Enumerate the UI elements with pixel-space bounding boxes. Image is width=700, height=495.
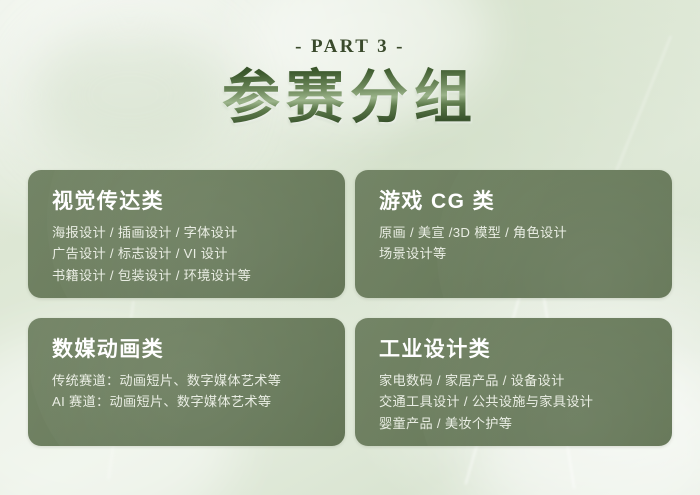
card-description: 原画 / 美宣 /3D 模型 / 角色设计 场景设计等	[379, 222, 672, 265]
poster-canvas: - PART 3 - 参赛分组 参赛分组 视觉传达类 海报设计 / 插画设计 /…	[0, 0, 700, 495]
card-description: 家电数码 / 家居产品 / 设备设计 交通工具设计 / 公共设施与家具设计 婴童…	[379, 370, 672, 434]
part-label: - PART 3 -	[0, 36, 700, 58]
category-card-industrial-design[interactable]: 工业设计类 家电数码 / 家居产品 / 设备设计 交通工具设计 / 公共设施与家…	[355, 318, 672, 446]
card-content: 数媒动画类 传统赛道：动画短片、数字媒体艺术等 AI 赛道：动画短片、数字媒体艺…	[28, 318, 345, 413]
card-line: 交通工具设计 / 公共设施与家具设计	[379, 391, 672, 412]
card-line: 原画 / 美宣 /3D 模型 / 角色设计	[379, 222, 672, 243]
card-content: 工业设计类 家电数码 / 家居产品 / 设备设计 交通工具设计 / 公共设施与家…	[355, 318, 672, 434]
card-content: 视觉传达类 海报设计 / 插画设计 / 字体设计 广告设计 / 标志设计 / V…	[28, 170, 345, 286]
card-title: 数媒动画类	[52, 338, 345, 361]
card-line: 广告设计 / 标志设计 / VI 设计	[52, 243, 345, 264]
category-card-game-cg[interactable]: 游戏 CG 类 原画 / 美宣 /3D 模型 / 角色设计 场景设计等	[355, 170, 672, 298]
card-description: 海报设计 / 插画设计 / 字体设计 广告设计 / 标志设计 / VI 设计 书…	[52, 222, 345, 286]
page-title: 参赛分组	[0, 66, 700, 131]
card-line: 传统赛道：动画短片、数字媒体艺术等	[52, 370, 345, 391]
card-line: 书籍设计 / 包装设计 / 环境设计等	[52, 265, 345, 286]
card-line: 海报设计 / 插画设计 / 字体设计	[52, 222, 345, 243]
card-title: 视觉传达类	[52, 190, 345, 213]
card-title: 游戏 CG 类	[379, 190, 672, 213]
card-title: 工业设计类	[379, 338, 672, 361]
category-card-grid: 视觉传达类 海报设计 / 插画设计 / 字体设计 广告设计 / 标志设计 / V…	[28, 170, 672, 446]
card-description: 传统赛道：动画短片、数字媒体艺术等 AI 赛道：动画短片、数字媒体艺术等	[52, 370, 345, 413]
card-content: 游戏 CG 类 原画 / 美宣 /3D 模型 / 角色设计 场景设计等	[355, 170, 672, 265]
category-card-digital-media-animation[interactable]: 数媒动画类 传统赛道：动画短片、数字媒体艺术等 AI 赛道：动画短片、数字媒体艺…	[28, 318, 345, 446]
card-line: 场景设计等	[379, 243, 672, 264]
card-line: 家电数码 / 家居产品 / 设备设计	[379, 370, 672, 391]
card-line: AI 赛道：动画短片、数字媒体艺术等	[52, 391, 345, 412]
category-card-visual-communication[interactable]: 视觉传达类 海报设计 / 插画设计 / 字体设计 广告设计 / 标志设计 / V…	[28, 170, 345, 298]
card-line: 婴童产品 / 美妆个护等	[379, 413, 672, 434]
